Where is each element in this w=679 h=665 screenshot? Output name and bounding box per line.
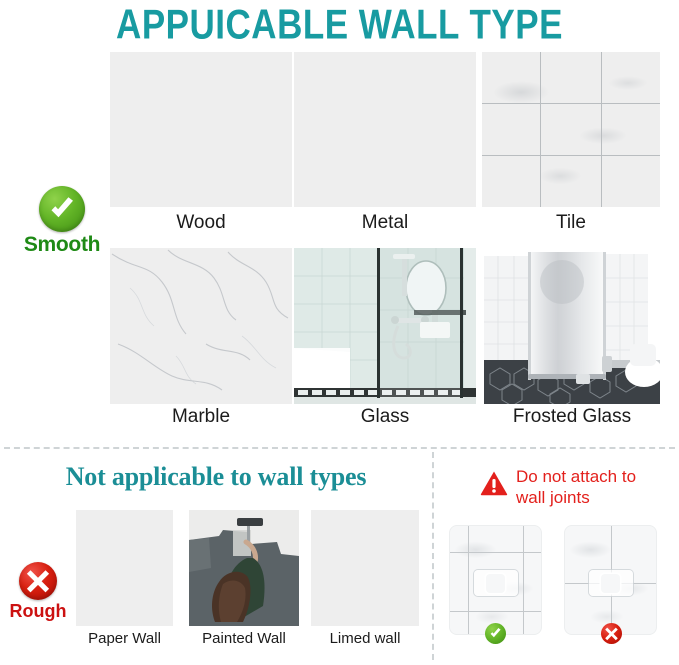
warning-triangle-icon	[480, 470, 508, 501]
rough-label: Rough	[2, 601, 74, 622]
surface-card-glass: Glass	[294, 248, 476, 404]
surface-card-tile: Tile	[482, 52, 660, 207]
horizontal-divider	[4, 447, 675, 449]
vertical-divider	[432, 452, 434, 660]
wood-texture-image	[110, 52, 292, 207]
infographic-page: APPUICABLE WALL TYPE Smooth Wood Metal T…	[0, 0, 679, 665]
surface-label-marble: Marble	[96, 406, 306, 428]
surface-label-limed-wall: Limed wall	[297, 630, 433, 647]
joint-warning-line1: Do not attach to	[516, 467, 636, 486]
surface-card-limed-wall: Limed wall	[311, 510, 419, 626]
painted-wall-image	[189, 510, 299, 626]
surface-card-painted-wall: Painted Wall	[189, 510, 299, 626]
not-applicable-heading: Not applicable to wall types	[0, 462, 432, 492]
surface-card-paper-wall: Paper Wall	[76, 510, 173, 626]
joint-example-correct	[450, 526, 541, 634]
surface-label-glass: Glass	[280, 406, 490, 428]
marble-texture-image	[110, 248, 292, 404]
surface-label-wood: Wood	[96, 212, 306, 234]
paper-wall-texture-image	[76, 510, 173, 626]
red-cross-circle-icon	[19, 562, 57, 600]
glass-bathroom-image	[294, 248, 476, 404]
surface-label-metal: Metal	[280, 212, 490, 234]
rough-category: Rough	[2, 562, 74, 622]
smooth-label: Smooth	[10, 233, 114, 257]
surface-card-frosted-glass: Frosted Glass	[484, 248, 660, 404]
joint-warning-line2: wall joints	[516, 488, 590, 507]
surface-label-tile: Tile	[468, 212, 674, 234]
tile-texture-image	[482, 52, 660, 207]
joint-warning-text: Do not attach to wall joints	[516, 466, 636, 508]
surface-card-metal: Metal	[294, 52, 476, 207]
green-check-badge	[485, 623, 506, 644]
surface-card-wood: Wood	[110, 52, 292, 207]
surface-label-paper-wall: Paper Wall	[62, 630, 187, 647]
surface-label-painted-wall: Painted Wall	[175, 630, 313, 647]
frosted-glass-bathroom-image	[484, 248, 660, 404]
joint-example-incorrect	[565, 526, 656, 634]
limed-wall-texture-image	[311, 510, 419, 626]
surface-card-marble: Marble	[110, 248, 292, 404]
joint-warning-block: Do not attach to wall joints	[480, 466, 676, 508]
surface-label-frosted-glass: Frosted Glass	[470, 406, 674, 428]
red-cross-badge	[601, 623, 622, 644]
green-check-circle-icon	[39, 186, 85, 232]
page-title: APPUICABLE WALL TYPE	[0, 2, 679, 49]
metal-texture-image	[294, 52, 476, 207]
